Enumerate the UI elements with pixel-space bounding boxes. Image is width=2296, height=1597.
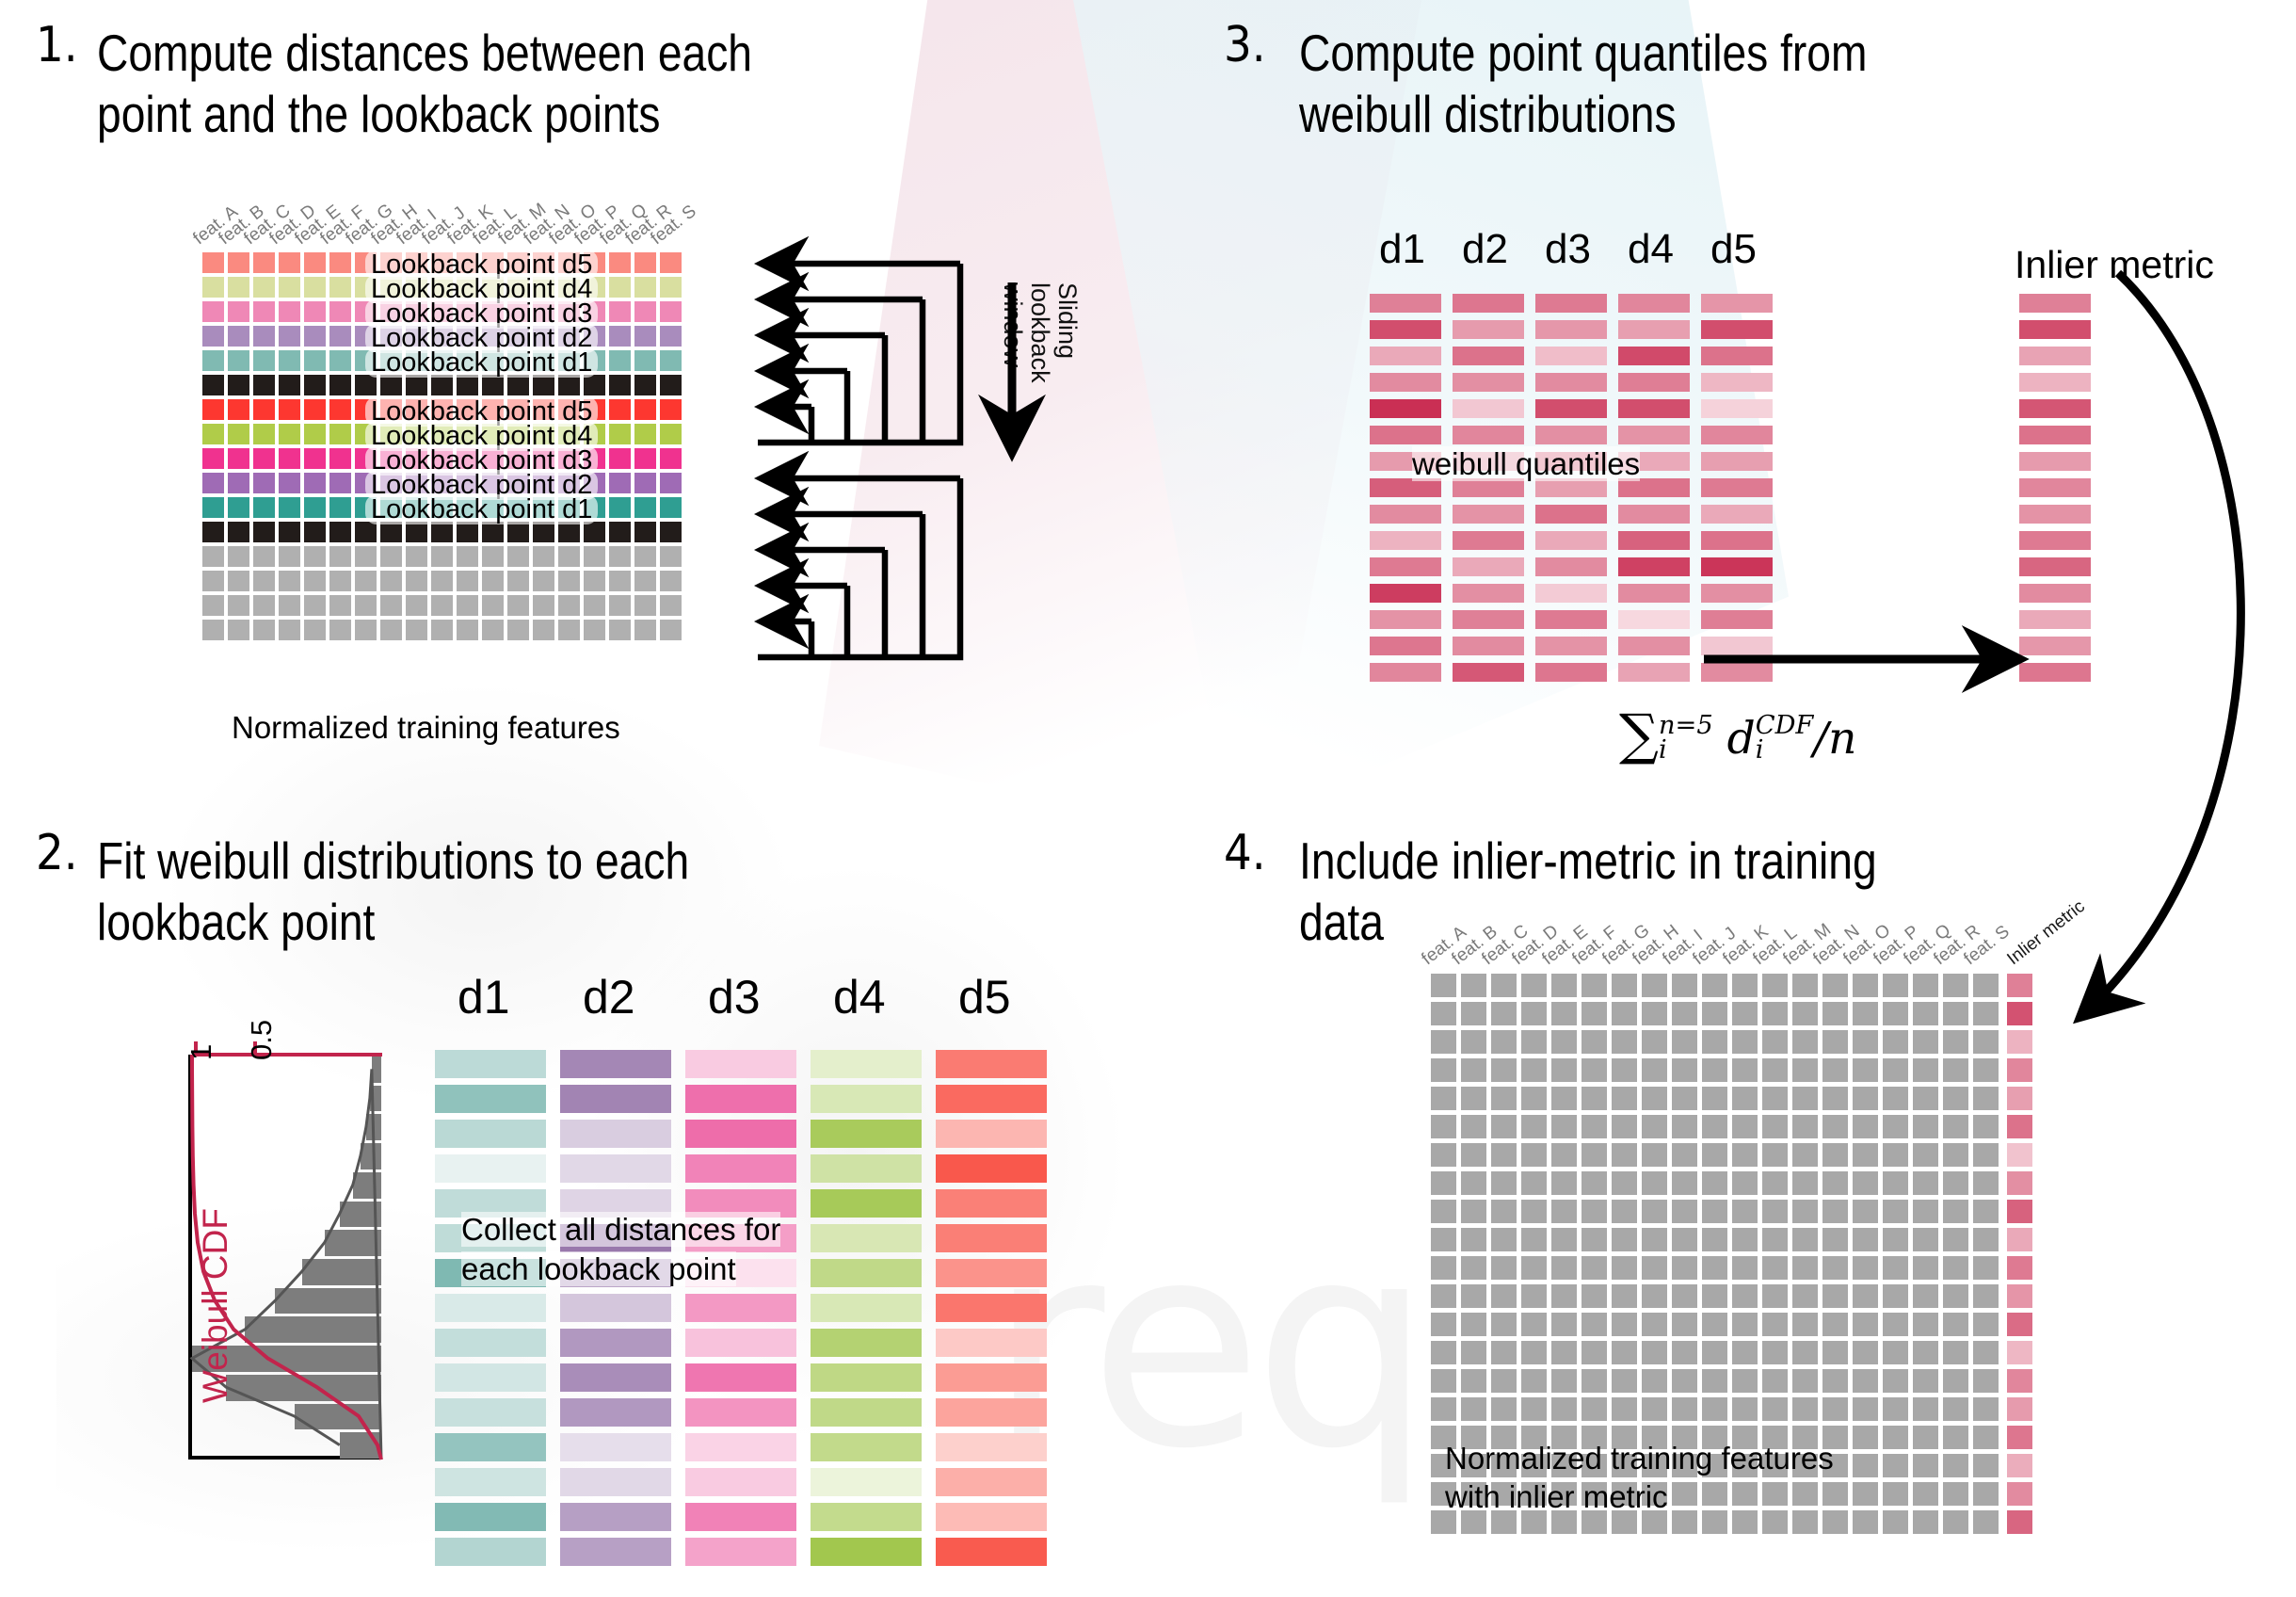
feature-cell	[1883, 1200, 1908, 1223]
panel3-column-label-d5: d5	[1710, 226, 1757, 273]
quantile-bar	[1701, 610, 1773, 629]
feature-cell	[253, 620, 275, 640]
panel3-column-label-d2: d2	[1462, 226, 1508, 273]
distance-bar	[811, 1398, 922, 1427]
feature-cell	[279, 326, 300, 347]
lookback-point-label: Lookback point d1	[365, 352, 598, 373]
inlier-metric-cell	[2007, 1228, 2032, 1251]
feature-cell	[1461, 1115, 1486, 1138]
feature-cell	[1612, 1058, 1637, 1082]
table-row	[1431, 1171, 2037, 1195]
feature-cell	[202, 252, 224, 273]
feature-cell	[380, 546, 402, 567]
distance-bar	[435, 1154, 546, 1183]
table-row	[1431, 1058, 2037, 1082]
feature-cell	[304, 473, 326, 493]
feature-cell	[1913, 1454, 1938, 1477]
quantile-bar	[1370, 663, 1441, 682]
feature-cell	[1883, 1115, 1908, 1138]
quantile-bar	[1535, 399, 1607, 418]
feature-cell	[1551, 1256, 1577, 1280]
feature-cell	[660, 620, 682, 640]
feature-cell	[609, 375, 631, 395]
feature-cell	[1431, 1115, 1456, 1138]
panel2-column-label-d1: d1	[458, 970, 510, 1024]
formula-upper-limit: n=5	[1659, 714, 1713, 738]
distance-bar	[936, 1329, 1047, 1357]
quantile-bar	[1701, 531, 1773, 550]
feature-cell	[482, 571, 504, 591]
distance-bar	[811, 1363, 922, 1392]
feature-cell	[1883, 1143, 1908, 1167]
feature-cell	[304, 350, 326, 371]
inlier-metric-cell	[2007, 1482, 2032, 1506]
inlier-metric-bar	[2019, 399, 2091, 418]
feature-cell	[1883, 1002, 1908, 1025]
feature-cell	[253, 522, 275, 542]
quantile-bar	[1618, 426, 1690, 444]
feature-cell	[329, 497, 351, 518]
lookback-point-label: Lookback point d2	[365, 328, 598, 348]
feature-cell	[1461, 1087, 1486, 1110]
quantile-bar	[1535, 637, 1607, 655]
feature-cell	[1431, 1058, 1456, 1082]
feature-cell	[1822, 1256, 1848, 1280]
distance-bar	[560, 1085, 671, 1113]
step-4-number: 4.	[1224, 829, 1266, 878]
feature-cell	[457, 571, 478, 591]
feature-cell	[1582, 1002, 1607, 1025]
feature-cell	[1883, 1058, 1908, 1082]
distance-bar	[435, 1398, 546, 1427]
feature-cell	[1913, 1002, 1938, 1025]
quantile-bar	[1701, 505, 1773, 524]
lookback-point-label: Lookback point d3	[365, 303, 598, 324]
feature-cell	[1521, 1002, 1547, 1025]
feature-cell	[1913, 1510, 1938, 1534]
quantile-bar	[1618, 610, 1690, 629]
feature-cell	[1491, 1228, 1517, 1251]
feature-cell	[304, 301, 326, 322]
feature-cell	[1943, 1115, 1968, 1138]
feature-cell	[1461, 1341, 1486, 1364]
feature-cell	[1612, 1087, 1637, 1110]
feature-cell	[1431, 1313, 1456, 1336]
feature-cell	[304, 326, 326, 347]
feature-cell	[1883, 1256, 1908, 1280]
feature-cell	[584, 546, 605, 567]
feature-cell	[1792, 1228, 1818, 1251]
feature-cell	[380, 595, 402, 616]
feature-cell	[1853, 1171, 1878, 1195]
feature-cell	[1431, 1143, 1456, 1167]
lookback-point-label: Lookback point d2	[365, 475, 598, 495]
weibull-cdf-curve-label: Weibull CDF	[196, 1208, 235, 1403]
panel3-column-label-d4: d4	[1628, 226, 1674, 273]
panel2-column-label-d5: d5	[958, 970, 1011, 1024]
quantile-bar	[1453, 505, 1524, 524]
feature-cell	[253, 448, 275, 469]
feature-cell	[304, 399, 326, 420]
feature-cell	[1973, 1200, 1999, 1223]
feature-cell	[1672, 1143, 1697, 1167]
watermark-text: req	[988, 1205, 1423, 1488]
feature-cell	[1822, 1313, 1848, 1336]
inlier-metric-cell	[2007, 1284, 2032, 1308]
feature-cell	[1642, 1058, 1667, 1082]
feature-cell	[1582, 1143, 1607, 1167]
feature-cell	[660, 546, 682, 567]
distance-bar	[811, 1224, 922, 1252]
feature-cell	[279, 350, 300, 371]
feature-cell	[228, 473, 249, 493]
quantile-bar	[1370, 584, 1441, 603]
lookback-point-label: Lookback point d5	[365, 401, 598, 422]
panel1-feature-labels: feat. Afeat. Bfeat. Cfeat. Dfeat. Efeat.…	[202, 184, 711, 250]
feature-cell	[1883, 1030, 1908, 1054]
distance-bar	[560, 1050, 671, 1078]
quantile-bar	[1701, 478, 1773, 497]
feature-cell	[380, 375, 402, 395]
table-row	[1431, 1143, 2037, 1167]
feature-cell	[1973, 1171, 1999, 1195]
distance-bar	[936, 1050, 1047, 1078]
feature-cell	[228, 399, 249, 420]
feature-cell	[482, 595, 504, 616]
feature-cell	[1762, 1341, 1788, 1364]
feature-cell	[1762, 974, 1788, 997]
feature-cell	[329, 546, 351, 567]
feature-cell	[329, 277, 351, 298]
feature-cell	[406, 620, 427, 640]
feature-cell	[253, 497, 275, 518]
feature-cell	[355, 620, 377, 640]
feature-cell	[660, 448, 682, 469]
feature-cell	[1973, 974, 1999, 997]
feature-cell	[1702, 1284, 1727, 1308]
formula-d: d	[1727, 713, 1756, 765]
feature-cell	[1612, 1341, 1637, 1364]
feature-cell	[1913, 1397, 1938, 1421]
inlier-metric-cell	[2007, 1510, 2032, 1534]
formula-divide: /n	[1813, 713, 1856, 765]
feature-cell	[1642, 1397, 1667, 1421]
feature-cell	[1853, 1143, 1878, 1167]
quantile-bar	[1701, 584, 1773, 603]
feature-cell	[1943, 1058, 1968, 1082]
feature-cell	[1853, 1030, 1878, 1054]
feature-cell	[1702, 1200, 1727, 1223]
feature-cell	[1883, 1454, 1908, 1477]
feature-cell	[1943, 1341, 1968, 1364]
feature-cell	[228, 595, 249, 616]
feature-cell	[1913, 974, 1938, 997]
distance-bar	[685, 1294, 796, 1322]
feature-cell	[1792, 1397, 1818, 1421]
feature-cell	[1762, 1284, 1788, 1308]
inlier-metric-bar	[2019, 505, 2091, 524]
feature-cell	[1973, 1510, 1999, 1534]
feature-cell	[660, 277, 682, 298]
feature-cell	[507, 375, 529, 395]
feature-cell	[1461, 1256, 1486, 1280]
feature-cell	[1732, 1313, 1758, 1336]
feature-cell	[1943, 1313, 1968, 1336]
feature-cell	[279, 448, 300, 469]
feature-cell	[634, 571, 656, 591]
feature-cell	[1702, 1228, 1727, 1251]
feature-cell	[1491, 1115, 1517, 1138]
feature-cell	[1853, 1228, 1878, 1251]
feature-cell	[634, 595, 656, 616]
table-row	[1431, 1313, 2037, 1336]
table-row	[202, 522, 685, 542]
feature-cell	[202, 375, 224, 395]
feature-cell	[253, 571, 275, 591]
feature-cell	[1702, 1002, 1727, 1025]
lookback-point-label: Lookback point d4	[365, 279, 598, 299]
distance-bar	[685, 1538, 796, 1566]
feature-cell	[1762, 1200, 1788, 1223]
quantile-bar	[1701, 557, 1773, 576]
feature-cell	[1913, 1228, 1938, 1251]
feature-cell	[507, 620, 529, 640]
feature-cell	[1582, 1369, 1607, 1393]
feature-cell	[1612, 1256, 1637, 1280]
feature-cell	[228, 375, 249, 395]
quantile-bar	[1535, 584, 1607, 603]
feature-cell	[1853, 1002, 1878, 1025]
feature-cell	[1521, 1058, 1547, 1082]
feature-cell	[1431, 1171, 1456, 1195]
feature-cell	[1732, 1058, 1758, 1082]
feature-cell	[1913, 1115, 1938, 1138]
feature-cell	[1973, 1454, 1999, 1477]
feature-cell	[279, 399, 300, 420]
feature-cell	[1822, 1200, 1848, 1223]
table-row	[1431, 1115, 2037, 1138]
feature-cell	[1582, 1115, 1607, 1138]
feature-cell	[1582, 1171, 1607, 1195]
feature-cell	[1521, 1087, 1547, 1110]
table-row	[1431, 1341, 2037, 1364]
quantile-bar	[1370, 531, 1441, 550]
feature-cell	[1792, 1115, 1818, 1138]
feature-cell	[1521, 1030, 1547, 1054]
feature-cell	[253, 326, 275, 347]
feature-cell	[1521, 1143, 1547, 1167]
feature-cell	[329, 522, 351, 542]
feature-cell	[1732, 1284, 1758, 1308]
feature-cell	[1762, 1002, 1788, 1025]
feature-cell	[634, 399, 656, 420]
feature-cell	[1491, 1143, 1517, 1167]
feature-cell	[1792, 974, 1818, 997]
inlier-metric-bar	[2019, 610, 2091, 629]
feature-cell	[609, 595, 631, 616]
feature-cell	[634, 252, 656, 273]
distance-bar	[685, 1363, 796, 1392]
feature-cell	[1973, 1313, 1999, 1336]
feature-cell	[1762, 1115, 1788, 1138]
quantile-bar	[1535, 373, 1607, 392]
quantile-bar	[1701, 347, 1773, 365]
feature-cell	[202, 473, 224, 493]
distance-bar	[811, 1189, 922, 1218]
table-row	[1431, 974, 2037, 997]
feature-cell	[228, 620, 249, 640]
feature-cell	[1612, 1115, 1637, 1138]
inlier-metric-cell	[2007, 1143, 2032, 1167]
distance-bar	[811, 1329, 922, 1357]
feature-cell	[329, 448, 351, 469]
feature-cell	[1431, 1369, 1456, 1393]
feature-cell	[1521, 1369, 1547, 1393]
feature-cell	[1732, 1087, 1758, 1110]
quantile-bar	[1618, 373, 1690, 392]
feature-cell	[533, 546, 554, 567]
feature-cell	[660, 350, 682, 371]
feature-cell	[1642, 1171, 1667, 1195]
feature-cell	[609, 424, 631, 444]
feature-cell	[634, 497, 656, 518]
feature-cell	[1973, 1426, 1999, 1449]
feature-cell	[1973, 1228, 1999, 1251]
feature-cell	[1792, 1313, 1818, 1336]
feature-cell	[1943, 1369, 1968, 1393]
feature-cell	[1732, 1200, 1758, 1223]
quantile-bar	[1618, 294, 1690, 313]
feature-cell	[1913, 1030, 1938, 1054]
feature-cell	[482, 375, 504, 395]
feature-cell	[609, 473, 631, 493]
feature-cell	[1732, 1228, 1758, 1251]
feature-cell	[609, 350, 631, 371]
feature-cell	[1702, 1087, 1727, 1110]
feature-cell	[228, 301, 249, 322]
feature-cell	[1491, 1369, 1517, 1393]
feature-cell	[304, 277, 326, 298]
distance-bar	[685, 1120, 796, 1148]
feature-cell	[634, 546, 656, 567]
feature-cell	[406, 546, 427, 567]
feature-cell	[304, 424, 326, 444]
distance-bar	[685, 1398, 796, 1427]
feature-cell	[1792, 1058, 1818, 1082]
feature-cell	[1582, 1200, 1607, 1223]
feature-cell	[1461, 1058, 1486, 1082]
feature-cell	[507, 595, 529, 616]
step-3-title: Compute point quantiles from weibull dis…	[1299, 23, 2169, 145]
feature-cell	[253, 301, 275, 322]
weibull-top-axis	[192, 1053, 382, 1057]
feature-cell	[355, 595, 377, 616]
feature-cell	[1943, 1397, 1968, 1421]
quantile-bar	[1453, 637, 1524, 655]
table-row	[1431, 1397, 2037, 1421]
feature-cell	[1672, 1030, 1697, 1054]
inlier-metric-cell	[2007, 1171, 2032, 1195]
distance-bar	[936, 1398, 1047, 1427]
feature-cell	[431, 571, 453, 591]
feature-cell	[1672, 974, 1697, 997]
feature-cell	[304, 252, 326, 273]
feature-cell	[1612, 1143, 1637, 1167]
feature-cell	[1792, 1002, 1818, 1025]
feature-cell	[279, 620, 300, 640]
quantile-bar	[1701, 320, 1773, 339]
feature-cell	[1521, 1284, 1547, 1308]
panel1-caption: Normalized training features	[232, 708, 620, 747]
feature-cell	[1521, 1313, 1547, 1336]
feature-cell	[1521, 974, 1547, 997]
feature-cell	[1973, 1482, 1999, 1506]
distance-bar	[936, 1294, 1047, 1322]
feature-cell	[279, 595, 300, 616]
feature-cell	[1582, 1087, 1607, 1110]
distance-bar	[811, 1294, 922, 1322]
quantile-bar	[1535, 663, 1607, 682]
feature-cell	[1702, 1143, 1727, 1167]
feature-cell	[1551, 1313, 1577, 1336]
feature-cell	[1883, 1397, 1908, 1421]
feature-cell	[634, 350, 656, 371]
formula-lower-limit: i	[1659, 738, 1713, 763]
distance-bar	[936, 1120, 1047, 1148]
lookback-point-label: Lookback point d5	[365, 254, 598, 275]
feature-cell	[1792, 1256, 1818, 1280]
inlier-metric-cell	[2007, 1454, 2032, 1477]
table-row	[1431, 1228, 2037, 1251]
feature-cell	[1853, 1454, 1878, 1477]
feature-cell	[1822, 1087, 1848, 1110]
feature-cell	[1973, 1284, 1999, 1308]
feature-cell	[1822, 1341, 1848, 1364]
feature-cell	[1822, 1030, 1848, 1054]
inlier-metric-cell	[2007, 974, 2032, 997]
feature-cell	[1551, 1058, 1577, 1082]
feature-cell	[1612, 974, 1637, 997]
feature-cell	[1822, 1115, 1848, 1138]
feature-cell	[1672, 1313, 1697, 1336]
feature-cell	[1762, 1058, 1788, 1082]
distance-bar	[685, 1503, 796, 1531]
quantile-bar	[1701, 426, 1773, 444]
distance-bar	[685, 1050, 796, 1078]
feature-cell	[1672, 1087, 1697, 1110]
feature-cell	[1672, 1115, 1697, 1138]
feature-cell	[228, 277, 249, 298]
feature-cell	[609, 448, 631, 469]
distance-bar	[435, 1329, 546, 1357]
feature-cell	[431, 546, 453, 567]
inlier-metric-cell	[2007, 1030, 2032, 1054]
feature-cell	[1973, 1030, 1999, 1054]
table-row	[202, 546, 685, 567]
feature-cell	[1642, 1002, 1667, 1025]
feature-cell	[1732, 1397, 1758, 1421]
feature-cell	[1913, 1369, 1938, 1393]
feature-cell	[609, 277, 631, 298]
feature-cell	[1642, 1256, 1667, 1280]
feature-cell	[1732, 974, 1758, 997]
feature-cell	[1883, 1426, 1908, 1449]
quantile-bar	[1618, 663, 1690, 682]
feature-cell	[482, 546, 504, 567]
feature-cell	[1491, 1200, 1517, 1223]
feature-cell	[1913, 1143, 1938, 1167]
feature-cell	[329, 424, 351, 444]
